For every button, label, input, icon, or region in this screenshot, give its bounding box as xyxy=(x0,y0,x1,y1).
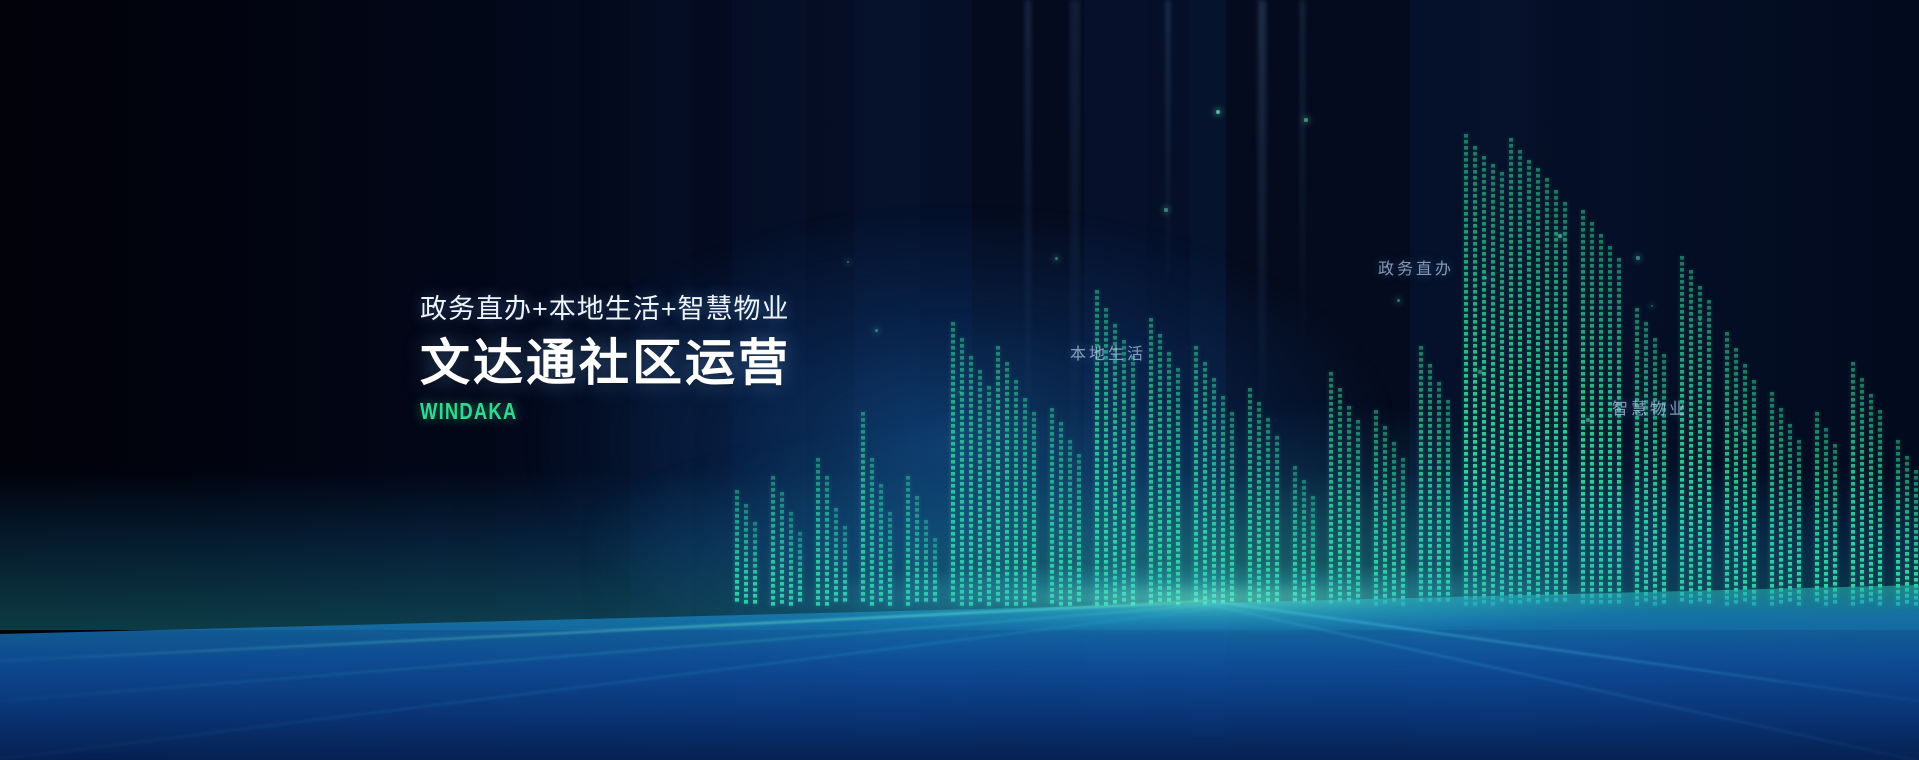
hero-banner: 政务直办本地生活智慧物业 政务直办+本地生活+智慧物业 文达通社区运营 WIND… xyxy=(0,0,1919,760)
city-labels: 政务直办本地生活智慧物业 xyxy=(0,0,1919,760)
city-label-1: 政务直办 xyxy=(1378,255,1454,279)
city-label-3: 智慧物业 xyxy=(1612,395,1688,419)
hero-title: 文达通社区运营 xyxy=(420,337,791,390)
brand-wordmark: WINDAKA xyxy=(420,400,717,423)
hero-subtitle: 政务直办+本地生活+智慧物业 xyxy=(420,296,791,323)
hero-copy: 政务直办+本地生活+智慧物业 文达通社区运营 WINDAKA xyxy=(420,296,791,423)
city-label-2: 本地生活 xyxy=(1070,340,1146,364)
